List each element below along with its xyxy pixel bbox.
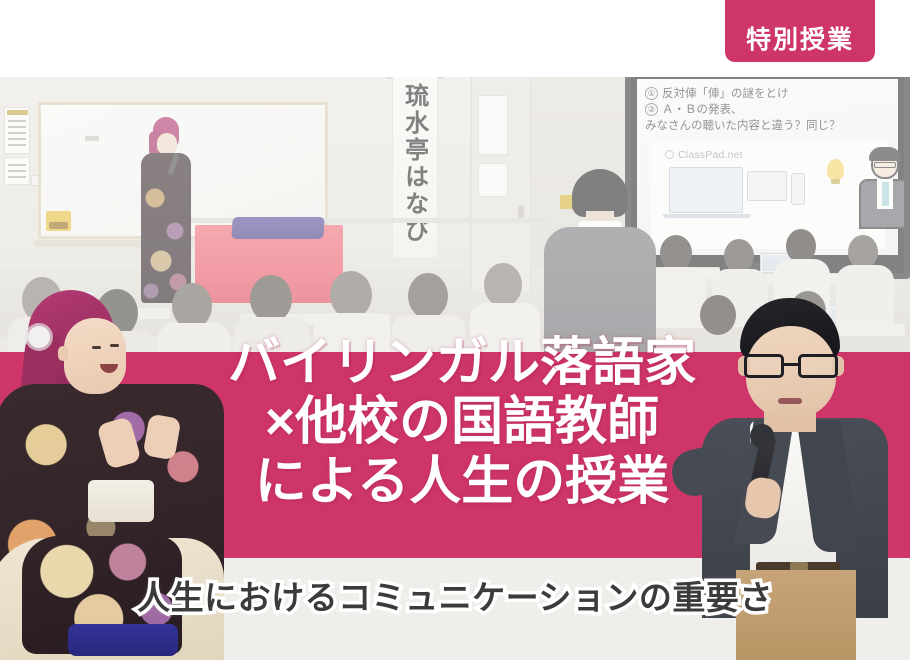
hair-flower-icon xyxy=(28,326,50,348)
student xyxy=(724,239,754,273)
classpad-mark-icon xyxy=(665,150,674,159)
student xyxy=(484,263,522,307)
badge-label: 特別授業 xyxy=(746,28,854,53)
slide-number-1: ① xyxy=(645,87,658,100)
teacher-illustration xyxy=(857,149,910,227)
standing-teacher xyxy=(540,169,660,369)
special-lesson-badge: 特別授業 xyxy=(725,0,875,62)
rakugo-name-scroll: 琉水亭はなび xyxy=(392,77,438,257)
lightbulb-icon xyxy=(827,159,844,180)
slide-number-2: ② xyxy=(645,103,658,116)
poster-header xyxy=(7,110,28,115)
tablet-illustration xyxy=(747,171,787,201)
slide-item-2: ②Ａ・Ｂの発表、 xyxy=(645,102,892,118)
whiteboard-tag xyxy=(85,136,99,141)
slide-content: ①反対俥「俥」の謎をとけ ②Ａ・Ｂの発表、 みなさんの聴いた内容と違う？同じ？ … xyxy=(637,79,898,255)
student xyxy=(408,273,448,319)
wall-socket xyxy=(31,175,39,186)
classpad-logo-text: ClassPad.net xyxy=(678,149,743,161)
whiteboard-magnet xyxy=(46,211,71,231)
phone-illustration xyxy=(791,173,805,205)
student xyxy=(848,235,878,269)
wall-poster xyxy=(4,107,30,154)
glasses-icon xyxy=(742,354,842,378)
guest-teacher-cutout xyxy=(690,298,900,660)
slide-illustration: ClassPad.net xyxy=(651,141,886,249)
student xyxy=(330,271,372,319)
student xyxy=(786,229,816,263)
microphone-head xyxy=(750,424,774,448)
rakugo-performer-cutout xyxy=(0,288,232,660)
door-poster xyxy=(478,95,508,155)
slide-text-1: 反対俥「俥」の謎をとけ xyxy=(662,86,789,100)
performer-on-stage xyxy=(135,117,195,307)
slide-text-2: Ａ・Ｂの発表、 xyxy=(662,102,743,116)
purple-cushion xyxy=(231,217,325,239)
slide-item-3: みなさんの聴いた内容と違う？同じ？ xyxy=(645,118,892,134)
classpad-logo: ClassPad.net xyxy=(665,149,743,161)
door-poster xyxy=(478,163,508,197)
student xyxy=(250,275,292,323)
student xyxy=(660,235,692,271)
slide-item-1: ①反対俥「俥」の謎をとけ xyxy=(645,86,892,102)
laptop-illustration xyxy=(669,167,743,213)
lesson-banner: 琉水亭はなび ①反対俥「俥」の謎をとけ ②Ａ・Ｂの発表、 みなさんの聴いた内容と… xyxy=(0,0,910,660)
seat-cushion xyxy=(68,624,178,656)
wall-poster xyxy=(4,157,30,185)
